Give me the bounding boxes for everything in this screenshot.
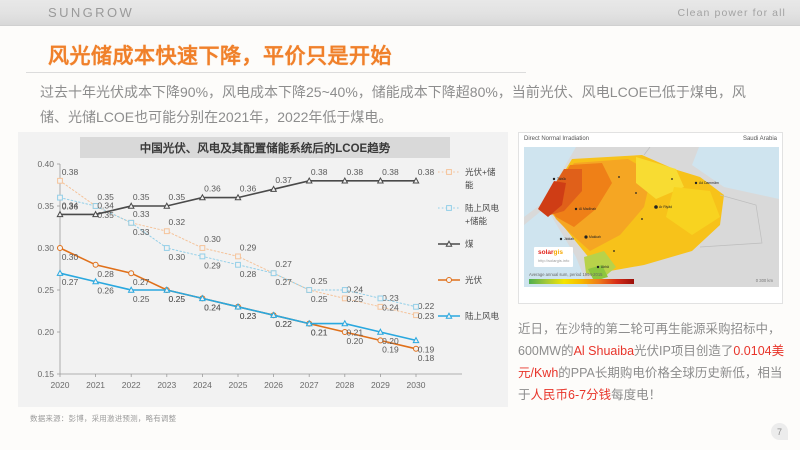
data-point-label: 0.38: [382, 167, 399, 177]
map-city-label: Ar Riyāḍ: [659, 205, 672, 209]
chart-legend-label: 光伏: [465, 275, 483, 285]
solargis-logo: solargis http://solargis.info: [534, 247, 573, 267]
data-point-label: 0.29: [240, 242, 257, 252]
chart-legend-item: 陆上风电+储能: [438, 203, 500, 226]
saudi-irradiation-map-panel: Direct Normal Irradiation Saudi Arabia: [518, 132, 783, 304]
page-number-badge: 7: [771, 423, 788, 440]
x-axis-tick: 2021: [86, 380, 105, 390]
map-city-label: Makkah: [589, 235, 601, 239]
data-point-label: 0.38: [62, 167, 79, 177]
x-axis-tick: 2027: [300, 380, 319, 390]
map-legend-label: Average annual sum, period 1994-2015: [529, 272, 603, 277]
map-city-label: Abhā: [601, 265, 609, 269]
chart-legend-label: 陆上风电: [465, 311, 500, 321]
data-point-label: 0.23: [382, 293, 399, 303]
map-scale-bar: 0 300 km: [756, 278, 773, 283]
x-axis-tick: 2028: [335, 380, 354, 390]
data-point-label: 0.35: [169, 192, 186, 202]
caption-highlight-rmb: 人民币6-7分钱: [531, 388, 612, 402]
chart-legend-item: 陆上风电: [438, 311, 500, 321]
title-divider: [26, 72, 526, 73]
data-point-label: 0.25: [133, 294, 150, 304]
chart-legend-label: 光伏+储: [465, 167, 496, 177]
data-point-label: 0.37: [275, 175, 292, 185]
data-point-label: 0.34: [62, 200, 79, 210]
data-point-label: 0.21: [347, 328, 364, 338]
data-point-label: 0.28: [240, 269, 257, 279]
data-point-label: 0.23: [240, 311, 257, 321]
map-legend-colorbar: [529, 279, 634, 284]
data-point-label: 0.30: [62, 252, 79, 262]
data-point-label: 0.38: [418, 167, 435, 177]
lcoe-chart-panel: 中国光伏、风电及其配置储能系统后的LCOE趋势 0.150.200.250.30…: [18, 132, 508, 407]
x-axis-tick: 2023: [157, 380, 176, 390]
caption-highlight-project: Al Shuaiba: [574, 344, 634, 358]
y-axis-tick: 0.35: [37, 201, 54, 211]
data-point-label: 0.22: [418, 301, 435, 311]
map-title-right: Saudi Arabia: [743, 136, 777, 142]
data-point-label: 0.22: [275, 319, 292, 329]
data-point-label: 0.24: [204, 302, 221, 312]
data-point-label: 0.32: [169, 217, 186, 227]
chart-legend-label: 煤: [465, 239, 474, 249]
data-point-label: 0.38: [347, 167, 364, 177]
data-point-label: 0.33: [133, 227, 150, 237]
data-point-label: 0.19: [418, 344, 435, 354]
data-point-label: 0.27: [275, 259, 292, 269]
data-point-label: 0.24: [382, 302, 399, 312]
chart-series: 0.360.350.330.300.290.280.270.250.250.24…: [58, 195, 435, 321]
map-city-label: Jiddah: [564, 237, 574, 241]
map-canvas: Ar RiyāḍJiddahMakkahAl MadīnahAd DammāmT…: [524, 147, 779, 287]
data-point-label: 0.34: [97, 200, 114, 210]
x-axis-tick: 2025: [229, 380, 248, 390]
page-title: 风光储成本快速下降，平价只是开始: [48, 40, 392, 70]
data-point-label: 0.36: [240, 184, 257, 194]
y-axis-tick: 0.20: [37, 327, 54, 337]
map-city-label: Tabūk: [557, 177, 566, 181]
y-axis-tick: 0.15: [37, 369, 54, 379]
data-point-label: 0.23: [418, 311, 435, 321]
data-point-label: 0.25: [347, 294, 364, 304]
intro-paragraph: 过去十年光伏成本下降90%，风电成本下降25~40%，储能成本下降超80%，当前…: [40, 80, 770, 130]
map-city-label: Al Madīnah: [579, 207, 596, 211]
data-point-label: 0.33: [133, 209, 150, 219]
chart-legend-label: 能: [465, 180, 474, 190]
chart-legend-item: 光伏: [438, 275, 483, 285]
chart-legend-item: 光伏+储能: [438, 167, 496, 190]
y-axis-tick: 0.25: [37, 285, 54, 295]
x-axis-tick: 2029: [371, 380, 390, 390]
x-axis-tick: 2022: [122, 380, 141, 390]
chart-legend-label: +储能: [465, 216, 487, 226]
data-point-label: 0.38: [311, 167, 328, 177]
data-point-label: 0.20: [382, 336, 399, 346]
caption-seg-2: 光伏IP项目创造了: [634, 344, 733, 358]
chart-legend-label: 陆上风电: [465, 203, 500, 213]
header-tagline: Clean power for all: [678, 7, 786, 19]
saudi-caption: 近日，在沙特的第二轮可再生能源采购招标中，600MW的Al Shuaiba光伏I…: [518, 318, 786, 406]
x-axis-tick: 2030: [407, 380, 426, 390]
data-point-label: 0.27: [133, 277, 150, 287]
app-header: SUNGROW Clean power for all: [0, 0, 800, 26]
map-title-left: Direct Normal Irradiation: [524, 136, 589, 142]
data-point-label: 0.28: [97, 269, 114, 279]
data-point-label: 0.21: [311, 328, 328, 338]
data-point-label: 0.26: [97, 286, 114, 296]
caption-seg-4: 每度电！: [611, 388, 661, 402]
y-axis-tick: 0.30: [37, 243, 54, 253]
chart-legend-item: 煤: [438, 239, 474, 249]
data-point-label: 0.36: [204, 184, 221, 194]
chart-series: 0.340.340.350.350.360.360.370.380.380.38…: [57, 167, 434, 217]
sungrow-logo: SUNGROW: [48, 5, 134, 20]
x-axis-tick: 2020: [51, 380, 70, 390]
lcoe-line-chart: 0.150.200.250.300.350.402020202120222023…: [18, 132, 508, 407]
data-point-label: 0.29: [204, 260, 221, 270]
y-axis-tick: 0.40: [37, 159, 54, 169]
map-city-label: Ad Dammām: [699, 181, 719, 185]
data-point-label: 0.27: [62, 277, 79, 287]
data-point-label: 0.25: [169, 294, 186, 304]
data-point-label: 0.25: [311, 294, 328, 304]
data-point-label: 0.25: [311, 276, 328, 286]
data-point-label: 0.35: [133, 192, 150, 202]
chart-source-note: 数据来源：彭博，采用激进预测，略有调整: [30, 413, 176, 424]
data-point-label: 0.27: [275, 277, 292, 287]
solargis-url: http://solargis.info: [538, 257, 569, 265]
data-point-label: 0.24: [347, 284, 364, 294]
x-axis-tick: 2026: [264, 380, 283, 390]
data-point-label: 0.30: [169, 252, 186, 262]
data-point-label: 0.30: [204, 234, 221, 244]
x-axis-tick: 2024: [193, 380, 212, 390]
map-header: Direct Normal Irradiation Saudi Arabia: [519, 133, 782, 147]
